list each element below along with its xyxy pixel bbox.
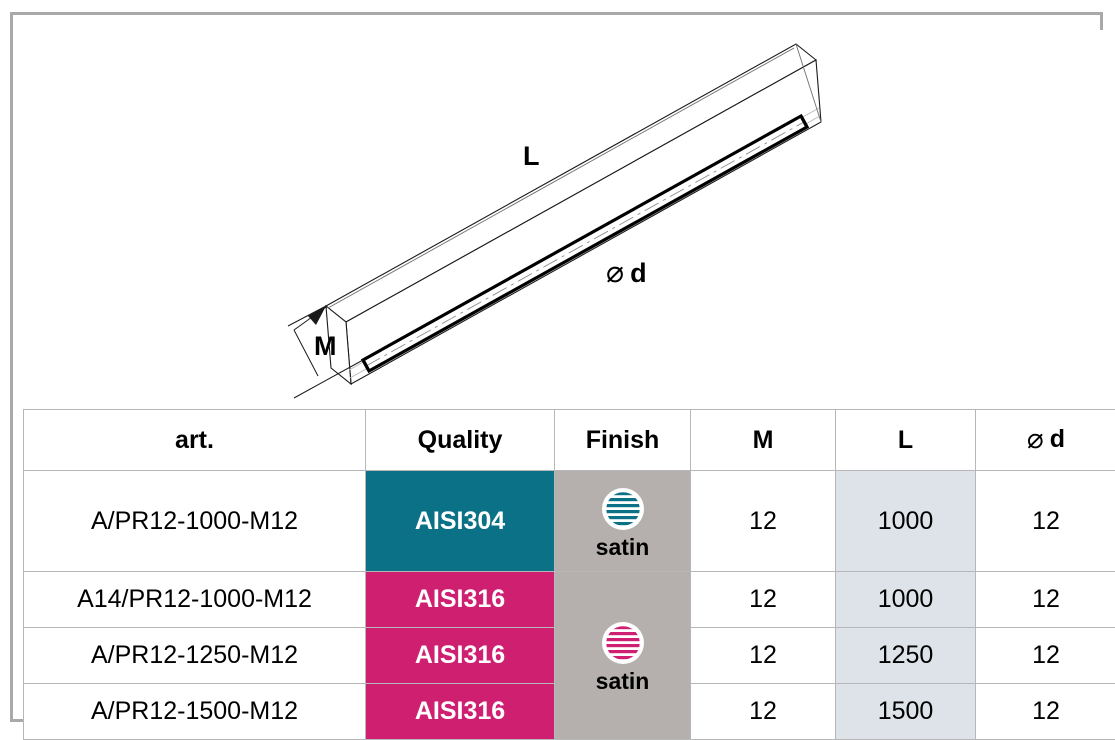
column-header-diameter-letter: d: [1050, 425, 1065, 454]
drawing-label-diameter: ⌀ d: [606, 258, 647, 288]
quality-badge: AISI316: [366, 572, 554, 627]
column-header-quality: Quality: [366, 410, 555, 471]
column-header-l: L: [836, 410, 976, 471]
drawing-label-diameter-letter: d: [630, 260, 647, 287]
cell-diameter: 12: [976, 684, 1115, 740]
cell-diameter: 12: [976, 628, 1115, 684]
cell-l-value: 1000: [836, 471, 975, 571]
cell-l: 1000: [836, 471, 976, 572]
cell-art: A/PR12-1250-M12: [24, 628, 366, 684]
dimension-l: [328, 48, 794, 308]
cell-finish: satin: [555, 471, 691, 572]
column-header-diameter: ⌀ d: [976, 410, 1115, 471]
finish-label: satin: [596, 670, 650, 693]
drawing-label-length: L: [523, 143, 540, 170]
satin-finish-icon: [598, 618, 648, 668]
column-header-m: M: [691, 410, 836, 471]
cell-quality: AISI316: [366, 684, 555, 740]
cell-l: 1500: [836, 684, 976, 740]
column-header-finish: Finish: [555, 410, 691, 471]
drawing-label-thread: M: [314, 333, 337, 360]
satin-finish-icon: [598, 484, 648, 534]
cell-diameter: 12: [976, 471, 1115, 572]
cell-diameter: 12: [976, 572, 1115, 628]
cell-art: A/PR12-1000-M12: [24, 471, 366, 572]
quality-badge: AISI304: [366, 471, 554, 571]
cell-l: 1000: [836, 572, 976, 628]
cell-m: 12: [691, 684, 836, 740]
cell-quality: AISI316: [366, 572, 555, 628]
table-row: A14/PR12-1000-M12 AISI316: [24, 572, 1115, 628]
quality-badge: AISI316: [366, 684, 554, 739]
diameter-symbol-icon: ⌀: [606, 258, 624, 288]
quality-badge: AISI316: [366, 628, 554, 683]
cell-l: 1250: [836, 628, 976, 684]
cell-l-value: 1000: [836, 572, 975, 627]
cell-finish: satin: [555, 572, 691, 740]
cell-quality: AISI316: [366, 628, 555, 684]
cell-art: A14/PR12-1000-M12: [24, 572, 366, 628]
drawing-area: L M ⌀ d: [26, 30, 1113, 410]
threaded-rod-drawing: [26, 30, 1113, 410]
diameter-symbol-icon: ⌀: [1027, 425, 1044, 453]
cell-quality: AISI304: [366, 471, 555, 572]
cell-l-value: 1250: [836, 628, 975, 683]
cell-art: A/PR12-1500-M12: [24, 684, 366, 740]
cell-m: 12: [691, 572, 836, 628]
product-spec-table: art. Quality Finish M L ⌀ d A/PR: [23, 409, 1115, 740]
bar-top-face: [326, 44, 816, 322]
cell-m: 12: [691, 471, 836, 572]
table-header-row: art. Quality Finish M L ⌀ d: [24, 410, 1115, 471]
figure-frame: L M ⌀ d art. Quality Finish M L: [10, 12, 1103, 722]
cell-l-value: 1500: [836, 684, 975, 739]
product-spec-figure: L M ⌀ d art. Quality Finish M L: [0, 0, 1115, 738]
column-header-art: art.: [24, 410, 366, 471]
cell-m: 12: [691, 628, 836, 684]
finish-label: satin: [596, 536, 650, 559]
threaded-rod: [363, 116, 807, 371]
table-row: A/PR12-1000-M12 AISI304: [24, 471, 1115, 572]
